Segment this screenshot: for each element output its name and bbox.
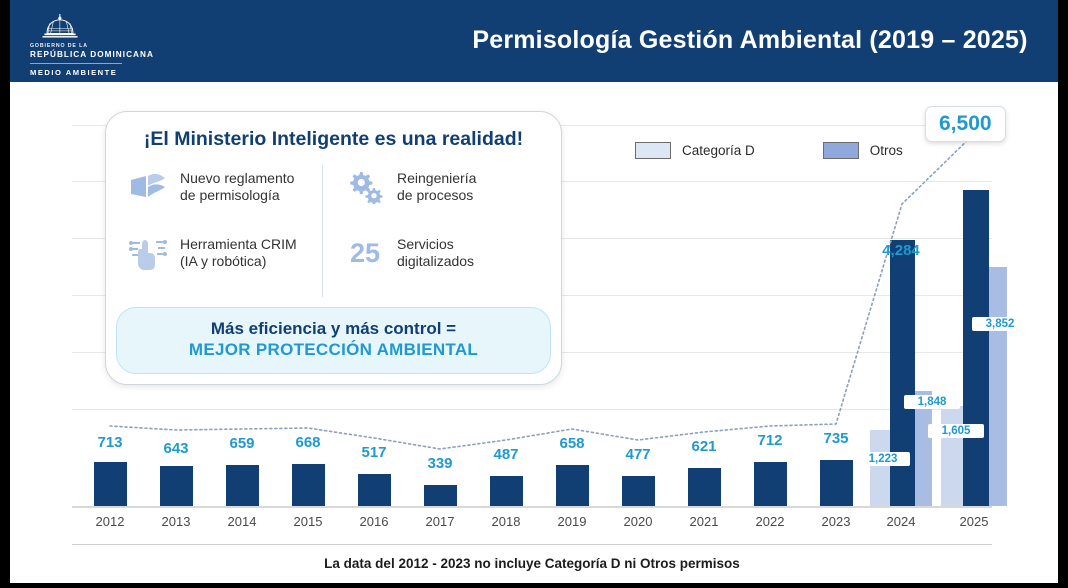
info-card-column-right: Reingeniería de procesos 25 Servicios di… xyxy=(322,165,539,297)
bar-2014[interactable] xyxy=(226,465,259,506)
feature-number-25: 25 xyxy=(345,240,385,267)
info-card: ¡El Ministerio Inteligente es una realid… xyxy=(105,111,562,385)
bar-2025-otros[interactable] xyxy=(989,267,1007,506)
feature-line-1: Nuevo reglamento xyxy=(180,170,294,186)
feature-text: Herramienta CRIM (IA y robótica) xyxy=(180,236,297,270)
bar-2022[interactable] xyxy=(754,462,787,506)
bar-2012[interactable] xyxy=(94,462,127,506)
bar-2025-categoria-d[interactable] xyxy=(941,406,963,506)
feature-nuevo-reglamento: Nuevo reglamento de permisología xyxy=(128,165,322,209)
feature-herramienta-crim: Herramienta CRIM (IA y robótica) xyxy=(128,231,322,275)
bar-2018[interactable] xyxy=(490,476,523,506)
gears-icon xyxy=(345,168,385,206)
header-bar: GOBIERNO DE LA REPÚBLICA DOMINICANA MEDI… xyxy=(10,0,1058,82)
legend-swatch-otros xyxy=(823,142,859,159)
feature-line-2: de permisología xyxy=(180,187,280,203)
value-label-2025-categoria-d: 1,605 xyxy=(928,424,984,438)
cta-line-2: MEJOR PROTECCIÓN AMBIENTAL xyxy=(123,340,544,360)
bar-2013[interactable] xyxy=(160,466,193,506)
value-label-2022: 712 xyxy=(740,432,800,449)
feature-text: Reingeniería de procesos xyxy=(397,170,476,204)
value-label-2017: 339 xyxy=(410,455,470,472)
cta-line-1: Más eficiencia y más control = xyxy=(123,319,544,339)
xlabel-2016: 2016 xyxy=(344,514,404,529)
footer-note: La data del 2012 - 2023 no incluye Categ… xyxy=(72,556,992,571)
feature-reingenieria: Reingeniería de procesos xyxy=(345,165,539,209)
callout-value: 6,500 xyxy=(939,112,992,135)
value-label-2024-permisos: 4,284 xyxy=(865,242,937,259)
bar-2024-categoria-d[interactable] xyxy=(870,430,890,506)
logo-divider xyxy=(30,63,122,64)
value-label-2024-otros: 1,848 xyxy=(904,395,960,409)
logo-line-3: MEDIO AMBIENTE xyxy=(30,68,202,77)
xlabel-2020: 2020 xyxy=(608,514,668,529)
legend-swatch-categoria-d xyxy=(635,142,671,159)
bar-2017[interactable] xyxy=(424,485,457,506)
feature-text: Nuevo reglamento de permisología xyxy=(180,170,294,204)
xlabel-2015: 2015 xyxy=(278,514,338,529)
bar-2019[interactable] xyxy=(556,465,589,506)
feature-line-1: Herramienta CRIM xyxy=(180,236,297,252)
feature-text: Servicios digitalizados xyxy=(397,236,474,270)
book-icon xyxy=(128,168,168,206)
value-label-2014: 659 xyxy=(212,435,272,452)
feature-line-2: (IA y robótica) xyxy=(180,253,266,269)
xlabel-2025: 2025 xyxy=(944,514,1004,529)
bar-2023[interactable] xyxy=(820,460,853,506)
capitol-dome-icon xyxy=(40,14,80,40)
xlabel-2019: 2019 xyxy=(542,514,602,529)
xlabel-2021: 2021 xyxy=(674,514,734,529)
footer-divider xyxy=(72,544,992,545)
robot-hand-icon xyxy=(128,234,168,272)
xlabel-2017: 2017 xyxy=(410,514,470,529)
value-label-2012: 713 xyxy=(80,434,140,451)
xlabel-2024: 2024 xyxy=(871,514,931,529)
legend-label-categoria-d: Categoría D xyxy=(682,143,755,158)
xlabel-2014: 2014 xyxy=(212,514,272,529)
bar-2025-permisos[interactable] xyxy=(963,190,989,506)
government-logo: GOBIERNO DE LA REPÚBLICA DOMINICANA MEDI… xyxy=(22,14,202,77)
bar-2024-permisos[interactable] xyxy=(890,240,915,506)
info-card-title: ¡El Ministerio Inteligente es una realid… xyxy=(106,128,561,151)
value-label-2018: 487 xyxy=(476,446,536,463)
value-label-2020: 477 xyxy=(608,446,668,463)
value-label-2025-otros: 3,852 xyxy=(972,317,1028,331)
feature-line-1: Servicios xyxy=(397,236,454,252)
legend-item-otros[interactable]: Otros xyxy=(823,142,903,159)
legend-label-otros: Otros xyxy=(870,143,903,158)
feature-line-2: digitalizados xyxy=(397,253,474,269)
slide-frame: GOBIERNO DE LA REPÚBLICA DOMINICANA MEDI… xyxy=(10,0,1058,583)
value-label-2015: 668 xyxy=(278,434,338,451)
bar-2016[interactable] xyxy=(358,474,391,506)
xlabel-2013: 2013 xyxy=(146,514,206,529)
xlabel-2023: 2023 xyxy=(806,514,866,529)
info-card-cta: Más eficiencia y más control = MEJOR PRO… xyxy=(116,307,551,374)
bar-2020[interactable] xyxy=(622,476,655,506)
value-label-2021: 621 xyxy=(674,438,734,455)
xlabel-2018: 2018 xyxy=(476,514,536,529)
value-label-2016: 517 xyxy=(344,444,404,461)
bar-2015[interactable] xyxy=(292,464,325,506)
info-card-column-left: Nuevo reglamento de permisología xyxy=(128,165,322,297)
feature-servicios-digitalizados: 25 Servicios digitalizados xyxy=(345,231,539,275)
callout-2025-total: 6,500 xyxy=(925,106,1006,142)
bar-2021[interactable] xyxy=(688,468,721,506)
logo-line-2: REPÚBLICA DOMINICANA xyxy=(30,50,202,59)
legend-item-categoria-d[interactable]: Categoría D xyxy=(635,142,755,159)
value-label-2023: 735 xyxy=(806,430,866,447)
page-title: Permisología Gestión Ambiental (2019 – 2… xyxy=(450,26,1050,55)
info-card-grid: Nuevo reglamento de permisología xyxy=(106,165,561,305)
feature-line-2: de procesos xyxy=(397,187,473,203)
logo-line-1: GOBIERNO DE LA xyxy=(30,43,202,49)
xlabel-2012: 2012 xyxy=(80,514,140,529)
value-label-2013: 643 xyxy=(146,440,206,457)
xlabel-2022: 2022 xyxy=(740,514,800,529)
value-label-2019: 658 xyxy=(542,435,602,452)
chart-legend: Categoría D Otros xyxy=(635,142,903,159)
value-label-2024-categoria-d: 1,223 xyxy=(856,452,910,466)
feature-line-1: Reingeniería xyxy=(397,170,476,186)
